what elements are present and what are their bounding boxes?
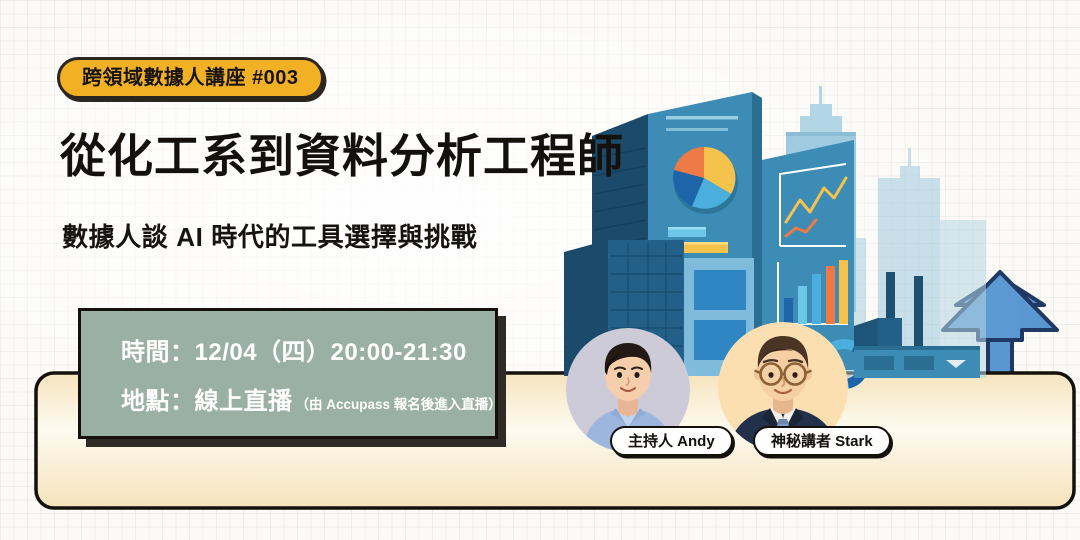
page-title: 從化工系到資料分析工程師	[60, 129, 624, 183]
info-place-row: 地點： 線上直播 （由 Accupass 報名後進入直播）	[121, 381, 495, 416]
info-place-note: （由 Accupass 報名後進入直播）	[296, 393, 502, 413]
info-place-value: 線上直播	[195, 381, 293, 416]
speaker-pill-host-label: 主持人 Andy	[628, 434, 715, 449]
speaker-pill-host: 主持人 Andy	[610, 426, 733, 456]
series-badge: 跨領域數據人講座 #003	[57, 57, 324, 99]
info-place-label: 地點：	[121, 381, 195, 416]
info-time-value: 12/04（四）20:00-21:30	[195, 332, 467, 367]
speaker-pill-guest-label: 神秘講者 Stark	[771, 434, 873, 449]
info-time-row: 時間： 12/04（四）20:00-21:30	[121, 332, 495, 367]
speaker-pill-guest: 神秘講者 Stark	[753, 426, 891, 456]
info-time-label: 時間：	[121, 332, 195, 367]
page-subtitle: 數據人談 AI 時代的工具選擇與挑戰	[62, 222, 477, 253]
series-badge-label: 跨領域數據人講座 #003	[82, 68, 299, 88]
event-info-box: 時間： 12/04（四）20:00-21:30 地點： 線上直播 （由 Accu…	[78, 308, 498, 439]
